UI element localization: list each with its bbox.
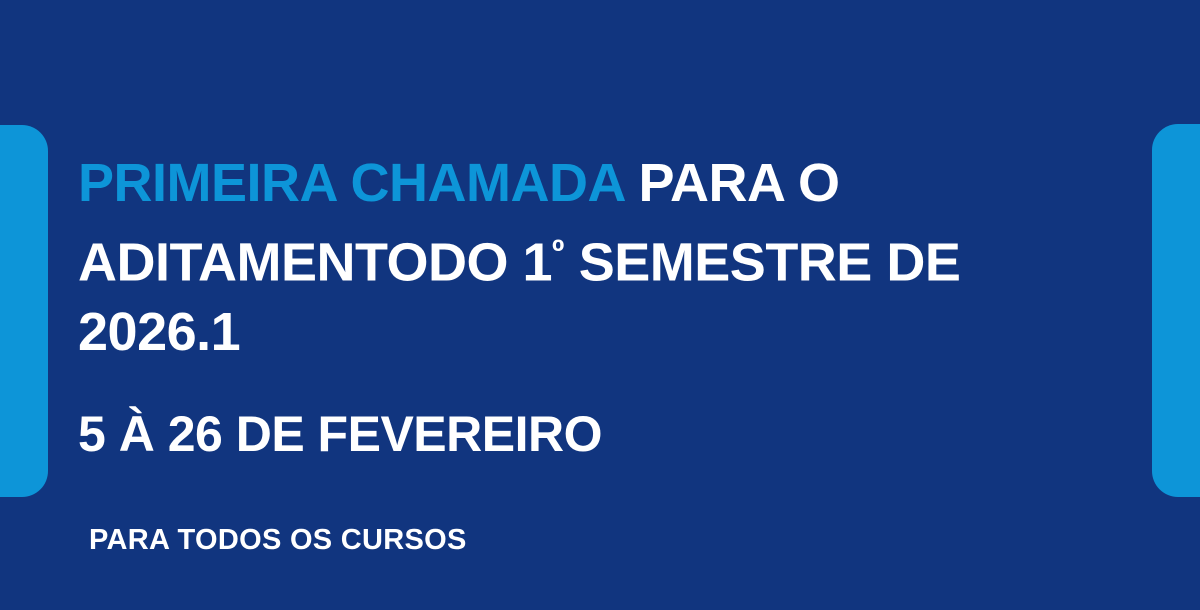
announcement-banner: PRIMEIRA CHAMADA PARA O ADITAMENTODO 1º …: [0, 0, 1200, 610]
banner-content: PRIMEIRA CHAMADA PARA O ADITAMENTODO 1º …: [78, 0, 1088, 610]
ordinal-indicator: º: [552, 234, 564, 271]
right-accent-bar: [1152, 124, 1200, 497]
banner-subtitle: PARA TODOS OS CURSOS: [89, 521, 467, 559]
banner-date-range: 5 À 26 DE FEVEREIRO: [78, 404, 602, 464]
banner-headline: PRIMEIRA CHAMADA PARA O ADITAMENTODO 1º …: [78, 148, 1058, 367]
left-accent-bar: [0, 125, 48, 497]
headline-highlight: PRIMEIRA CHAMADA: [78, 153, 624, 213]
